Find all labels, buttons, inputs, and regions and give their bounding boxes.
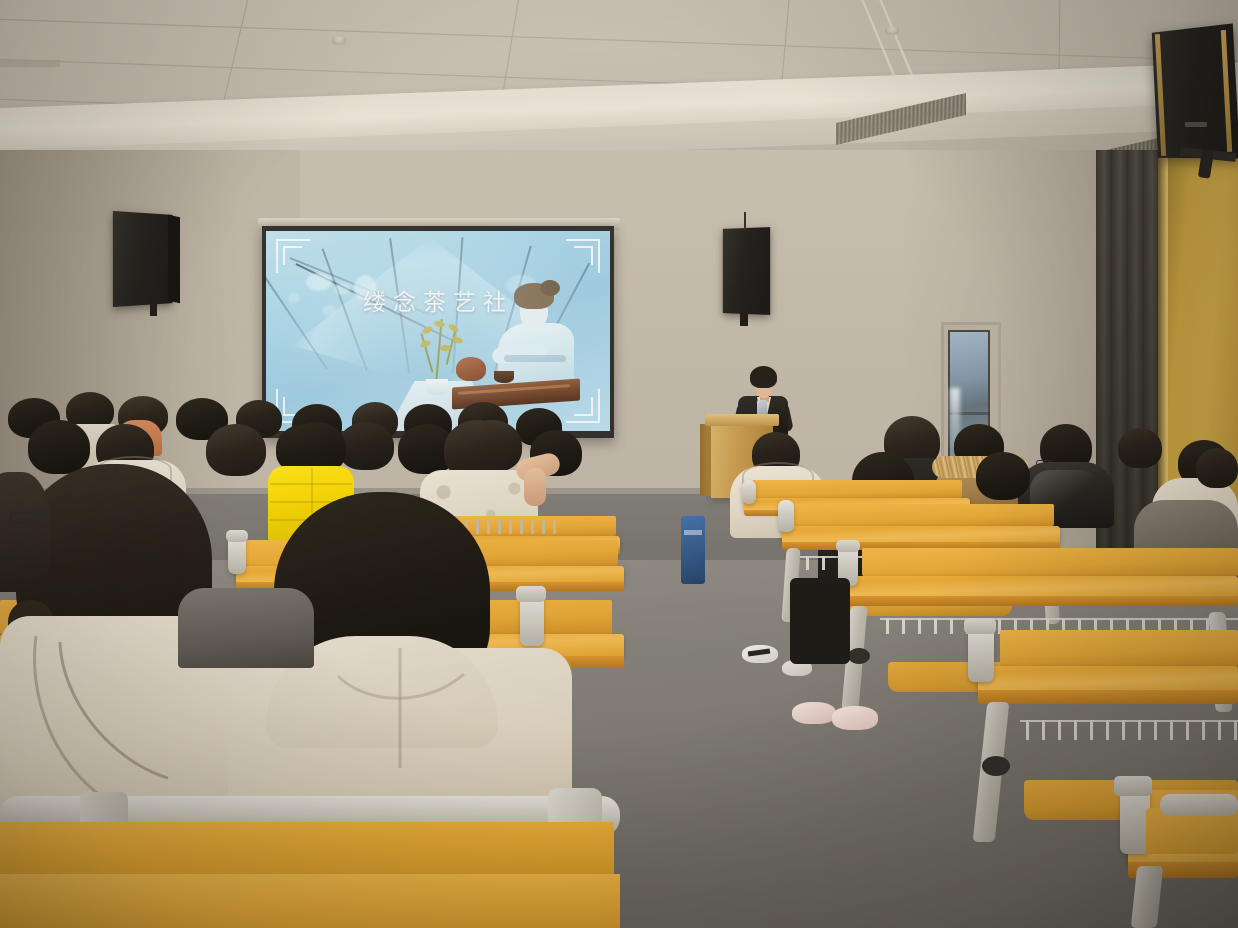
- desk-front-board: [0, 822, 614, 878]
- seat-pivot: [982, 756, 1010, 776]
- floor-bag: [681, 516, 705, 584]
- presenter-phone-icon: [757, 400, 767, 415]
- projector-glow: [266, 231, 610, 431]
- person-body-gray-sweater: [178, 588, 314, 668]
- person-head: [206, 424, 266, 476]
- presenter-hair: [750, 366, 777, 388]
- person-head: [1196, 448, 1238, 488]
- glasses-icon: [10, 512, 36, 523]
- lecture-hall-photo: 缕念茶艺社: [0, 0, 1238, 928]
- desk-foreground-right-rail[interactable]: [1160, 794, 1238, 816]
- shoe-pink: [792, 702, 836, 724]
- seat-pivot: [848, 648, 870, 664]
- desk-foreground-top[interactable]: [0, 874, 620, 928]
- speaker-wall-mid-icon: [723, 227, 770, 315]
- smoke-detector-icon: [885, 26, 899, 35]
- podium-top-surface: [705, 414, 779, 426]
- smoke-detector-icon: [332, 36, 346, 45]
- projection-screen: 缕念茶艺社: [266, 231, 610, 431]
- person-head: [976, 452, 1030, 500]
- person-head: [1118, 428, 1162, 468]
- speaker-left-mount: [150, 300, 157, 316]
- person-head-edge-left: [0, 472, 50, 592]
- shoe-pink: [832, 706, 878, 730]
- speaker-badge: [1185, 122, 1207, 127]
- floor-bag-strap: [684, 530, 702, 535]
- speaker-wall-left-icon: [113, 211, 173, 307]
- speaker-left-side: [168, 215, 180, 304]
- person-forearm: [524, 468, 546, 506]
- speaker-mid-mount: [740, 312, 748, 326]
- speaker-mid-cable: [744, 212, 746, 230]
- person-legs-dark: [790, 578, 850, 664]
- person-head: [28, 420, 90, 474]
- person-head: [338, 422, 394, 470]
